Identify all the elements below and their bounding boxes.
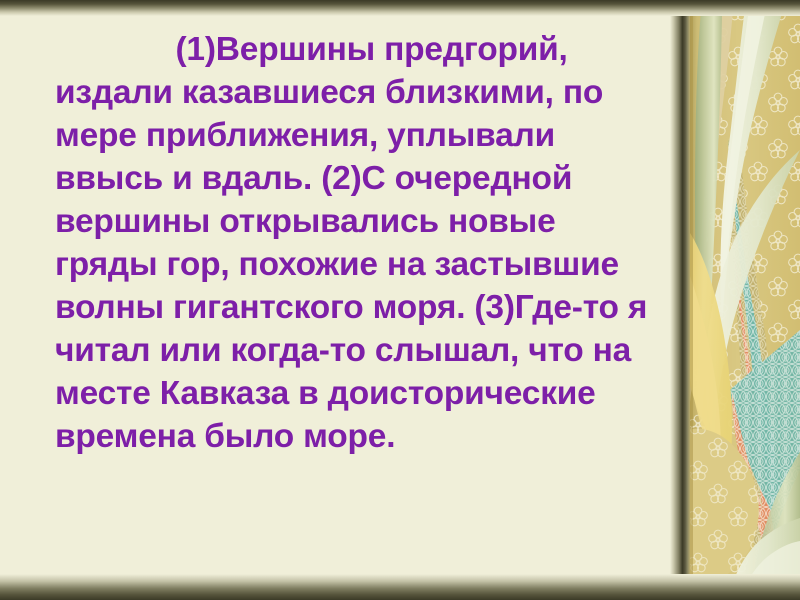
slide-body-text: (1)Вершины предгорий, издали казавшиеся … bbox=[55, 28, 665, 458]
ornament-artwork bbox=[688, 0, 800, 600]
oriental-floral-border-ornament bbox=[688, 0, 800, 600]
presentation-slide: (1)Вершины предгорий, издали казавшиеся … bbox=[0, 0, 800, 600]
